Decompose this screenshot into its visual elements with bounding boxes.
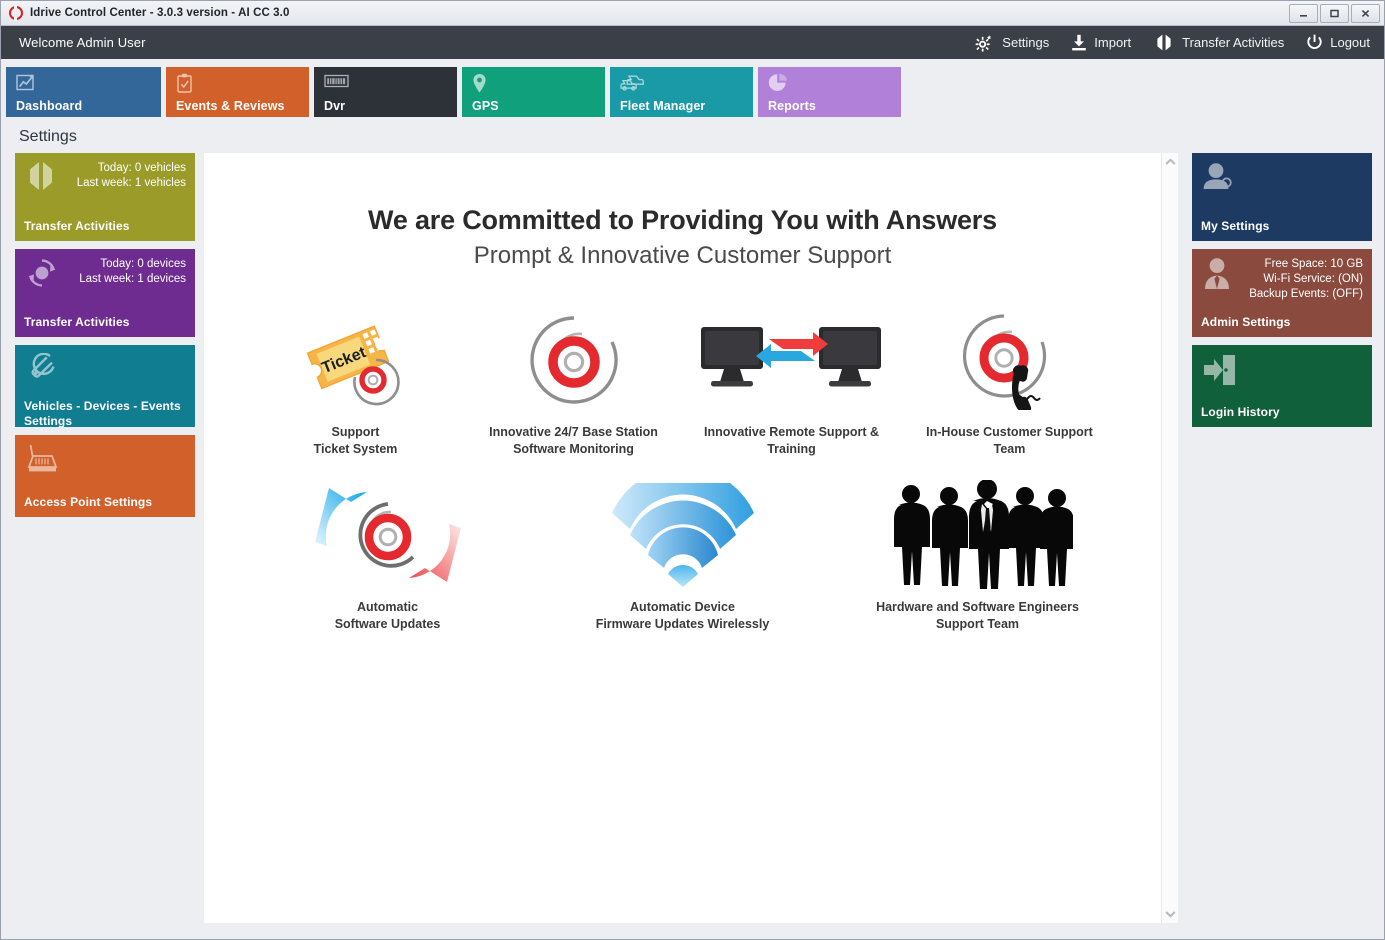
- tab-reports[interactable]: Reports: [758, 67, 901, 117]
- support-ticket-icon: Ticket: [302, 306, 410, 414]
- cars-icon: [620, 73, 743, 95]
- tile-transfer-activities-devices[interactable]: Today: 0 devices Last week: 1 devices Tr…: [15, 249, 195, 337]
- tile-vehicles-devices-events-settings[interactable]: Vehicles - Devices - Events Settings: [15, 345, 195, 427]
- engineers-team-icon: [883, 481, 1073, 589]
- top-toolbar: Welcome Admin User: [1, 26, 1384, 59]
- admin-user-icon: [1201, 257, 1233, 291]
- tab-label-events-reviews: Events & Reviews: [176, 99, 299, 117]
- tab-gps[interactable]: GPS: [462, 67, 605, 117]
- gear-icon: [975, 34, 995, 52]
- feature-automatic-software-updates: Automatic Software Updates: [240, 481, 535, 634]
- window-controls: [1289, 4, 1380, 23]
- sync-circle-icon: [24, 257, 60, 289]
- stat-line: Last week: 1 devices: [79, 272, 186, 287]
- stat-line: Today: 0 devices: [79, 257, 186, 272]
- tile-stats: Free Space: 10 GB Wi-Fi Service: (ON) Ba…: [1249, 257, 1363, 303]
- feature-caption: Innovative 24/7 Base Station Software Mo…: [489, 424, 658, 459]
- content-inner: We are Committed to Providing You with A…: [204, 153, 1161, 923]
- title-bar: Idrive Control Center - 3.0.3 version - …: [1, 1, 1384, 26]
- feature-remote-support-training: Innovative Remote Support & Training: [683, 306, 901, 459]
- feature-caption: Automatic Software Updates: [335, 599, 441, 634]
- main-content-column: We are Committed to Providing You with A…: [204, 153, 1178, 923]
- user-gear-icon: [1201, 161, 1235, 193]
- feature-base-station-monitoring: Innovative 24/7 Base Station Software Mo…: [465, 306, 683, 459]
- feature-in-house-customer-support: In-House Customer Support Team: [901, 306, 1119, 459]
- tab-label-gps: GPS: [472, 99, 595, 117]
- tile-label: Admin Settings: [1201, 315, 1363, 330]
- tab-label-reports: Reports: [768, 99, 891, 117]
- tile-admin-settings[interactable]: Free Space: 10 GB Wi-Fi Service: (ON) Ba…: [1192, 249, 1372, 337]
- content-scrollbar[interactable]: [1161, 153, 1178, 923]
- download-icon: [1071, 34, 1087, 51]
- import-button[interactable]: Import: [1071, 34, 1131, 51]
- tile-label: Vehicles - Devices - Events Settings: [24, 399, 186, 428]
- chevron-up-icon[interactable]: [1165, 158, 1176, 166]
- tab-dashboard[interactable]: Dashboard: [6, 67, 161, 117]
- transfer-activities-label: Transfer Activities: [1182, 35, 1284, 50]
- close-button[interactable]: [1351, 4, 1380, 23]
- content-panel: We are Committed to Providing You with A…: [204, 153, 1161, 923]
- wifi-signal-icon: [608, 481, 758, 589]
- import-label: Import: [1094, 35, 1131, 50]
- map-pin-icon: [472, 73, 595, 95]
- body-area: Today: 0 vehicles Last week: 1 vehicles …: [1, 153, 1384, 939]
- maximize-button[interactable]: [1320, 4, 1349, 23]
- tab-label-fleet-manager: Fleet Manager: [620, 99, 743, 117]
- welcome-label: Welcome Admin User: [19, 35, 146, 50]
- base-station-monitoring-icon: [526, 306, 622, 414]
- clipboard-check-icon: [176, 73, 299, 95]
- login-door-icon: [1201, 353, 1237, 387]
- feature-caption: Innovative Remote Support & Training: [704, 424, 879, 459]
- remote-support-monitors-icon: [697, 306, 887, 414]
- phone-support-icon: [958, 306, 1062, 414]
- tile-login-history[interactable]: Login History: [1192, 345, 1372, 427]
- settings-label: Settings: [1002, 35, 1049, 50]
- application-window: Idrive Control Center - 3.0.3 version - …: [0, 0, 1385, 940]
- page-title: Settings: [1, 121, 1384, 153]
- scrollbar-track[interactable]: [1162, 166, 1178, 910]
- transfer-arrows-icon: [1153, 34, 1175, 51]
- feature-caption: Hardware and Software Engineers Support …: [876, 599, 1079, 634]
- tile-label: Login History: [1201, 405, 1363, 420]
- stat-line: Wi-Fi Service: (ON): [1249, 272, 1363, 287]
- tile-label: Transfer Activities: [24, 315, 186, 330]
- chart-line-icon: [16, 73, 151, 95]
- tile-my-settings[interactable]: My Settings: [1192, 153, 1372, 241]
- toolbar-actions: Settings Import: [975, 34, 1370, 52]
- main-tab-bar: Dashboard Events & Reviews: [1, 67, 1384, 121]
- tab-dvr[interactable]: Dvr: [314, 67, 457, 117]
- window-title: Idrive Control Center - 3.0.3 version - …: [30, 7, 289, 19]
- feature-row-2: Automatic Software Updates: [224, 481, 1141, 634]
- feature-caption: Support Ticket System: [314, 424, 398, 459]
- software-update-icon: [307, 481, 469, 589]
- tile-label: My Settings: [1201, 219, 1363, 234]
- idrive-logo-icon: [9, 6, 23, 20]
- logout-button[interactable]: Logout: [1306, 34, 1370, 51]
- transfer-activities-button[interactable]: Transfer Activities: [1153, 34, 1284, 51]
- tile-stats: Today: 0 devices Last week: 1 devices: [79, 257, 186, 287]
- logout-label: Logout: [1330, 35, 1370, 50]
- chevron-down-icon[interactable]: [1165, 910, 1176, 918]
- stat-line: Last week: 1 vehicles: [77, 176, 186, 191]
- tab-fleet-manager[interactable]: Fleet Manager: [610, 67, 753, 117]
- tab-label-dvr: Dvr: [324, 99, 447, 117]
- stat-line: Today: 0 vehicles: [77, 161, 186, 176]
- stat-line: Backup Events: (OFF): [1249, 287, 1363, 302]
- dvr-box-icon: [324, 73, 447, 95]
- transfer-arrows-icon: [24, 161, 58, 191]
- right-sidebar: My Settings Free Space: 10 GB Wi-Fi Serv…: [1192, 153, 1372, 923]
- wrench-icon: [24, 353, 58, 385]
- tile-label: Access Point Settings: [24, 495, 186, 510]
- power-icon: [1306, 34, 1323, 51]
- feature-support-ticket-system: Ticket: [247, 306, 465, 459]
- tile-access-point-settings[interactable]: Access Point Settings: [15, 435, 195, 517]
- router-icon: [24, 443, 64, 475]
- tab-label-dashboard: Dashboard: [16, 99, 151, 117]
- tab-events-reviews[interactable]: Events & Reviews: [166, 67, 309, 117]
- feature-engineers-support-team: Hardware and Software Engineers Support …: [830, 481, 1125, 634]
- settings-button[interactable]: Settings: [975, 34, 1049, 52]
- content-subheadline: Prompt & Innovative Customer Support: [224, 242, 1141, 270]
- tile-label: Transfer Activities: [24, 219, 186, 234]
- feature-caption: In-House Customer Support Team: [926, 424, 1093, 459]
- stat-line: Free Space: 10 GB: [1249, 257, 1363, 272]
- tile-transfer-activities-vehicles[interactable]: Today: 0 vehicles Last week: 1 vehicles …: [15, 153, 195, 241]
- pie-chart-icon: [768, 73, 891, 95]
- left-sidebar: Today: 0 vehicles Last week: 1 vehicles …: [15, 153, 195, 923]
- feature-row-1: Ticket: [224, 306, 1141, 459]
- feature-automatic-firmware-updates: Automatic Device Firmware Updates Wirele…: [535, 481, 830, 634]
- feature-caption: Automatic Device Firmware Updates Wirele…: [596, 599, 770, 634]
- content-headline: We are Committed to Providing You with A…: [224, 205, 1141, 236]
- minimize-button[interactable]: [1289, 4, 1318, 23]
- tile-stats: Today: 0 vehicles Last week: 1 vehicles: [77, 161, 186, 191]
